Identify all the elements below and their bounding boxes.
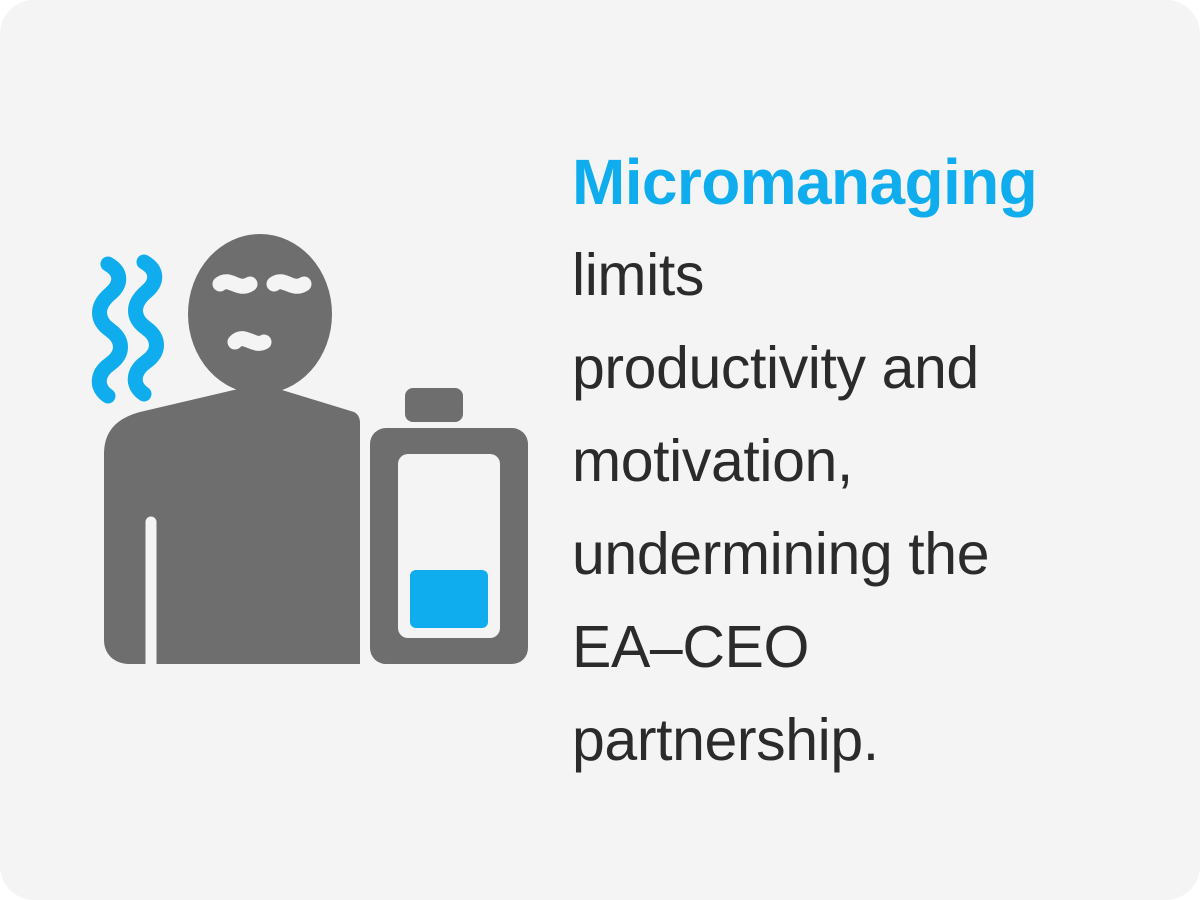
message-text-block: Micromanaging limits productivity and mo… xyxy=(572,136,1092,787)
tired-face-head xyxy=(188,234,332,394)
frowning-mouth xyxy=(235,339,264,344)
closed-eye-left xyxy=(220,282,250,287)
stress-squiggle-lines-icon xyxy=(99,262,156,396)
torso-body xyxy=(104,387,360,664)
headline: Micromanaging xyxy=(572,136,1092,229)
closed-eye-right xyxy=(274,282,304,287)
info-card: Micromanaging limits productivity and mo… xyxy=(0,0,1200,900)
battery-charge-level xyxy=(410,570,488,628)
low-battery-icon xyxy=(370,388,528,664)
stress-squiggle-line-right xyxy=(135,262,156,394)
tired-face-icon xyxy=(188,234,332,394)
stress-squiggle-line-left xyxy=(99,264,120,396)
person-torso xyxy=(104,387,360,666)
battery-cap xyxy=(405,388,463,422)
tired-person-with-low-battery-illustration xyxy=(78,222,548,672)
body-copy: limits productivity and motivation, unde… xyxy=(572,229,1092,787)
